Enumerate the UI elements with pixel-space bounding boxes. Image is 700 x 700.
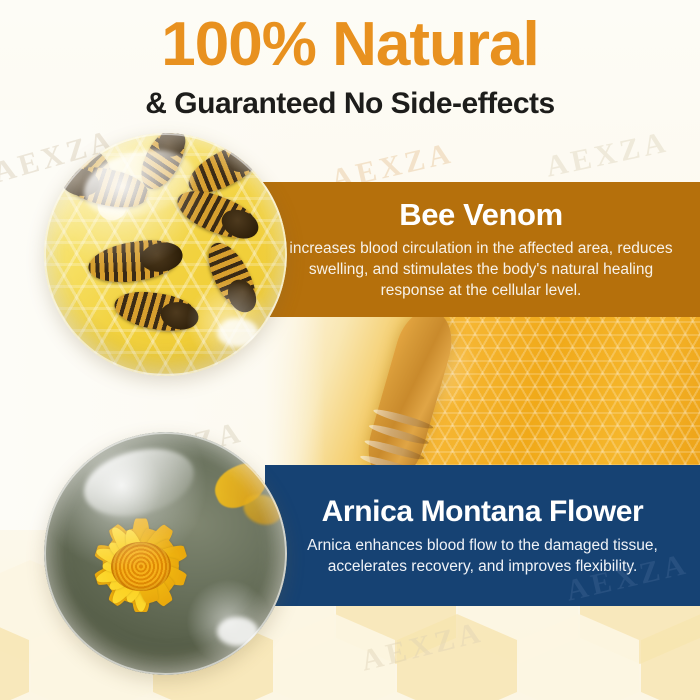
ingredient-description: increases blood circulation in the affec… bbox=[281, 238, 681, 301]
ingredient-band-arnica: Arnica Montana Flower Arnica enhances bl… bbox=[265, 465, 700, 606]
ingredient-description: Arnica enhances blood flow to the damage… bbox=[285, 535, 680, 577]
ingredient-band-bee-venom: Bee Venom increases blood circulation in… bbox=[262, 182, 700, 317]
glass-rim bbox=[44, 432, 287, 675]
poster-header: 100% Natural & Guaranteed No Side-effect… bbox=[0, 0, 700, 119]
ingredient-poster: AEXZA AEXZA AEXZA AEXZA AEXZA 100% Natur… bbox=[0, 0, 700, 700]
ingredient-image-arnica bbox=[44, 432, 287, 675]
page-subtitle: & Guaranteed No Side-effects bbox=[0, 76, 700, 119]
ingredient-image-bee-venom bbox=[44, 133, 287, 376]
honeycomb-dipper-image bbox=[265, 314, 700, 466]
ingredient-title: Arnica Montana Flower bbox=[322, 495, 644, 529]
ingredient-title: Bee Venom bbox=[399, 198, 563, 232]
glass-rim bbox=[44, 133, 287, 376]
page-title: 100% Natural bbox=[0, 0, 700, 76]
